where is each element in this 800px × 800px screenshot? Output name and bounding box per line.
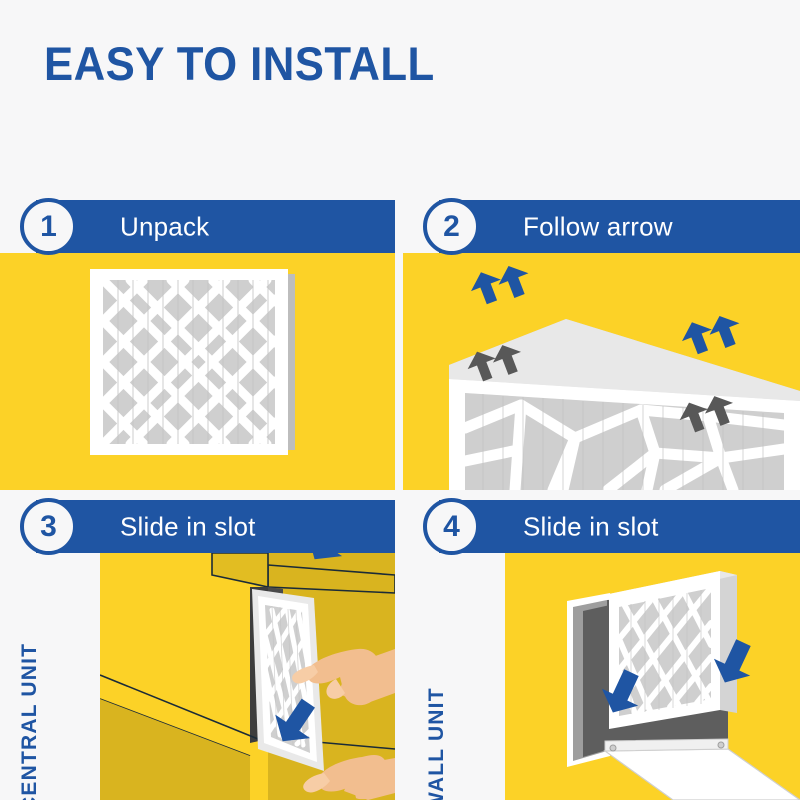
airflow-arrow-blue-right xyxy=(677,306,746,361)
step-panel-3: CENTRAL UNIT Slide in slot 3 xyxy=(0,500,395,800)
step-panel-2: Follow arrow 2 xyxy=(403,200,800,490)
central-unit-install-graphic xyxy=(100,553,395,800)
step-4-label: Slide in slot xyxy=(523,511,659,542)
step-2-number-badge: 2 xyxy=(423,198,480,255)
step-1-illustration xyxy=(0,253,395,490)
step-3-number-badge: 3 xyxy=(20,498,77,555)
step-4-illustration xyxy=(505,553,800,800)
step-3-header-bar: Slide in slot xyxy=(36,500,395,553)
step-4-side-label: WALL UNIT xyxy=(425,612,449,800)
step-panel-1: Unpack 1 xyxy=(0,200,395,490)
step-3-illustration xyxy=(100,553,395,800)
airflow-arrow-blue-left xyxy=(466,256,535,311)
page-title: EASY TO INSTALL xyxy=(44,36,435,91)
step-1-number-badge: 1 xyxy=(20,198,77,255)
step-4-header-bar: Slide in slot xyxy=(439,500,800,553)
step-1-label: Unpack xyxy=(120,211,209,242)
step-2-header-bar: Follow arrow xyxy=(439,200,800,253)
wall-unit-install-graphic xyxy=(505,553,800,800)
step-panel-4: WALL UNIT Slide in slot 4 xyxy=(403,500,800,800)
step-4-number-badge: 4 xyxy=(423,498,480,555)
tilted-filter-airflow-graphic xyxy=(403,253,800,490)
step-3-side-label: CENTRAL UNIT xyxy=(18,612,42,800)
flat-air-filter-graphic xyxy=(0,253,395,490)
step-2-label: Follow arrow xyxy=(523,211,673,242)
step-2-illustration xyxy=(403,253,800,490)
step-3-label: Slide in slot xyxy=(120,511,256,542)
infographic-root: EASY TO INSTALL xyxy=(0,0,800,800)
step-1-header-bar: Unpack xyxy=(36,200,395,253)
